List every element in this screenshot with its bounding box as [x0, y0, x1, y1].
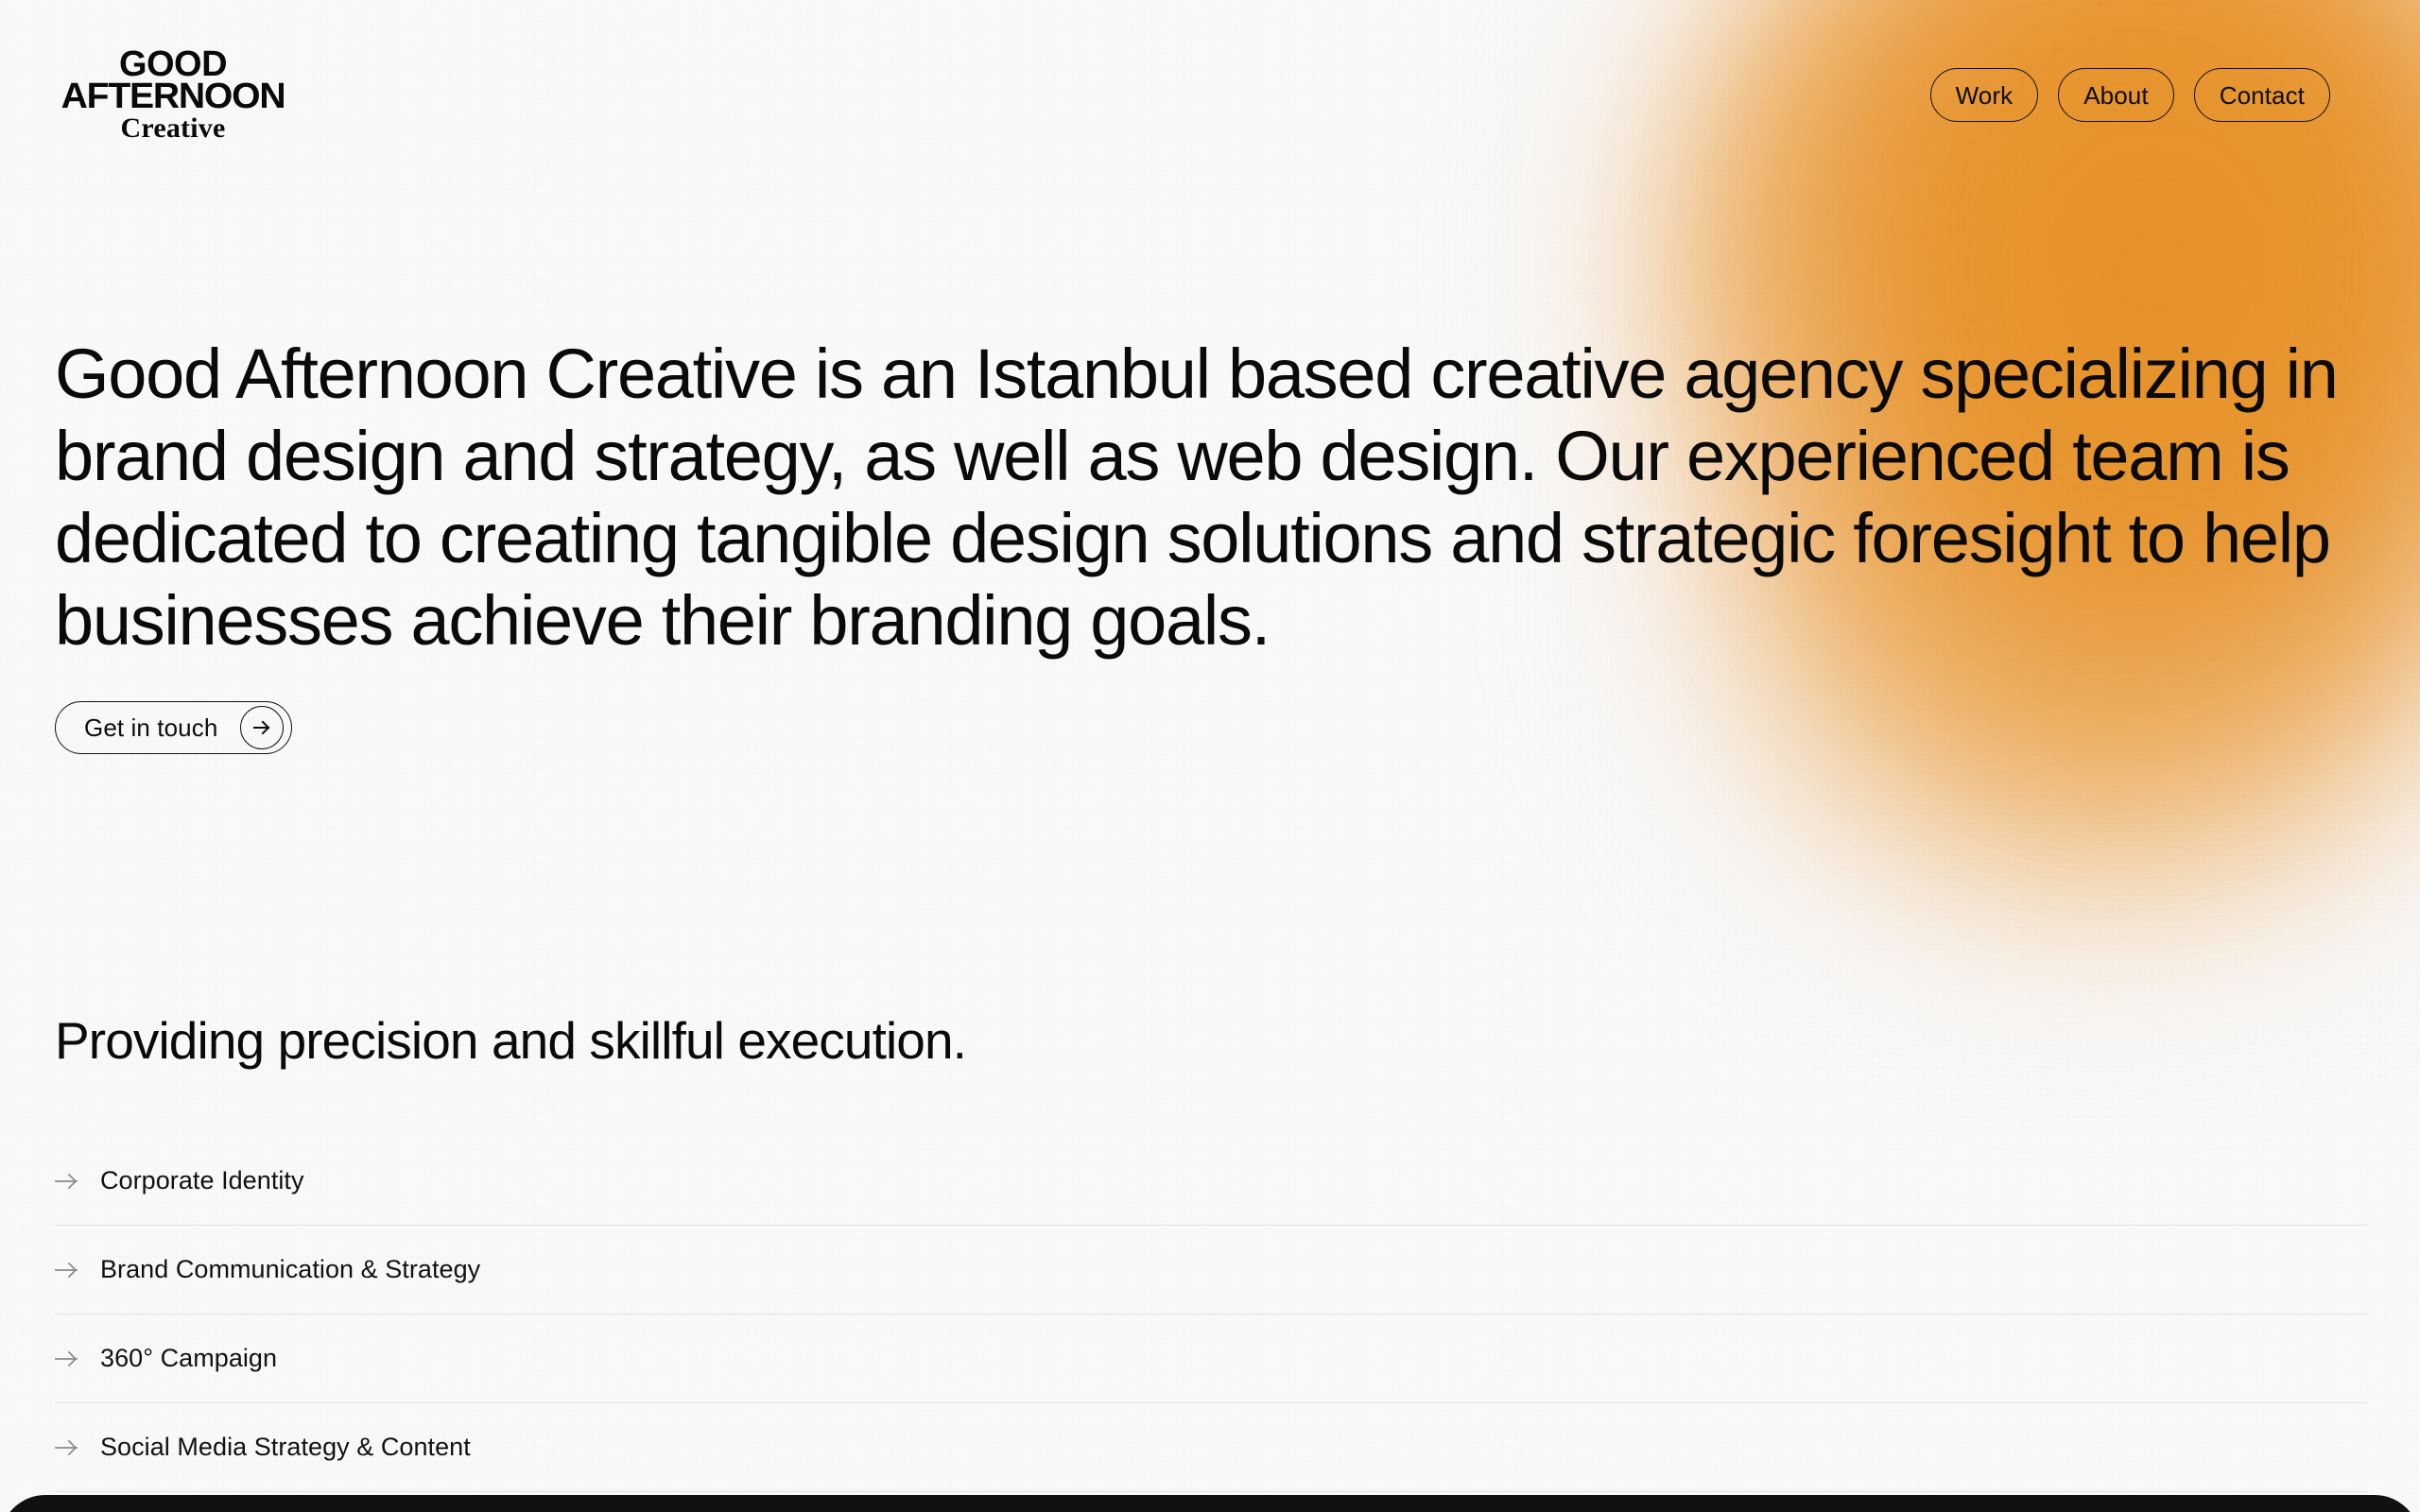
hero-heading: Good Afternoon Creative is an Istanbul b…	[55, 333, 2342, 661]
brand-logo-line-creative: Creative	[55, 114, 291, 143]
hero-section: Good Afternoon Creative is an Istanbul b…	[55, 333, 2371, 754]
arrow-right-icon	[55, 1438, 79, 1457]
page-root: GOOD AFTERNOON Creative Work About Conta…	[0, 0, 2420, 1512]
brand-logo[interactable]: GOOD AFTERNOON Creative	[55, 49, 291, 143]
nav-item-about[interactable]: About	[2058, 68, 2173, 122]
service-item-social-media-strategy-content[interactable]: Social Media Strategy & Content	[55, 1403, 2367, 1492]
services-heading: Providing precision and skillful executi…	[55, 1013, 2367, 1069]
get-in-touch-label: Get in touch	[84, 715, 217, 740]
get-in-touch-button[interactable]: Get in touch	[55, 701, 292, 754]
main-navigation: Work About Contact	[1930, 68, 2330, 122]
service-item-360-campaign[interactable]: 360° Campaign	[55, 1314, 2367, 1403]
services-list: Corporate Identity Brand Communication &…	[55, 1137, 2367, 1492]
nav-item-work[interactable]: Work	[1930, 68, 2039, 122]
arrow-right-icon	[55, 1349, 79, 1368]
service-item-corporate-identity[interactable]: Corporate Identity	[55, 1137, 2367, 1226]
arrow-right-icon	[240, 706, 284, 749]
service-item-label: Corporate Identity	[100, 1168, 304, 1194]
arrow-right-icon	[55, 1261, 79, 1280]
site-header: GOOD AFTERNOON Creative Work About Conta…	[0, 0, 2420, 170]
brand-logo-line-afternoon: AFTERNOON	[51, 80, 295, 113]
nav-item-contact[interactable]: Contact	[2194, 68, 2330, 122]
service-item-label: Social Media Strategy & Content	[100, 1435, 471, 1460]
next-section-peek	[0, 1495, 2420, 1512]
services-section: Providing precision and skillful executi…	[55, 1013, 2367, 1492]
arrow-right-icon	[55, 1172, 79, 1191]
service-item-label: Brand Communication & Strategy	[100, 1257, 480, 1282]
service-item-brand-communication-strategy[interactable]: Brand Communication & Strategy	[55, 1226, 2367, 1314]
service-item-label: 360° Campaign	[100, 1346, 277, 1371]
